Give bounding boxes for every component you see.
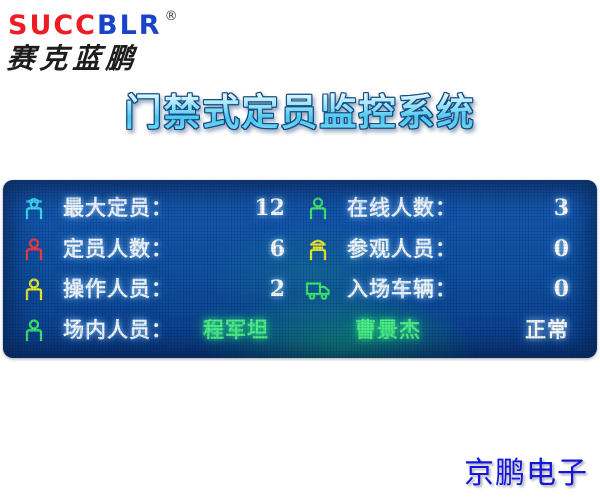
person-icon <box>19 234 49 264</box>
led-label-vehicle-count: 入场车辆： <box>347 277 457 301</box>
led-label-visitor-count: 参观人员： <box>347 237 457 261</box>
footer-brand: 京鹏电子 <box>464 456 588 492</box>
led-row-visitor-count: 参观人员： 0 <box>303 229 583 270</box>
led-value-max-capacity: 12 <box>254 196 299 220</box>
person-icon <box>19 315 49 345</box>
led-value-operator-count: 2 <box>270 277 299 301</box>
led-label-max-capacity: 最大定员： <box>63 196 173 220</box>
led-value-online-count: 3 <box>554 196 583 220</box>
person-icon <box>19 274 49 304</box>
led-row-status: 曹景杰 正常 <box>303 310 583 351</box>
led-rows-container: 最大定员： 12 在线人数： 3 <box>3 180 597 358</box>
led-onsite-name-1: 程军坦 <box>203 318 269 342</box>
registered-trademark-icon: ® <box>165 2 178 32</box>
led-value-visitor-count: 0 <box>554 237 583 261</box>
person-icon <box>303 193 333 223</box>
led-row-onsite-personnel: 场内人员： 程军坦 <box>19 310 299 351</box>
led-row-online-count: 在线人数： 3 <box>303 188 583 229</box>
led-value-vehicle-count: 0 <box>554 277 583 301</box>
led-label-online-count: 在线人数： <box>347 196 457 220</box>
led-label-onsite-personnel: 场内人员： <box>63 318 173 342</box>
brand-chinese-name: 赛克蓝鹏 <box>6 42 228 76</box>
led-row-vehicle-count: 入场车辆： 0 <box>303 269 583 310</box>
led-display-panel: 最大定员： 12 在线人数： 3 <box>3 180 597 358</box>
led-row-operator-count: 操作人员： 2 <box>19 269 299 310</box>
led-row-max-capacity: 最大定员： 12 <box>19 188 299 229</box>
brand-wordmark-succ: SUCC <box>8 10 97 41</box>
person-hat-icon <box>19 193 49 223</box>
led-onsite-name-2: 曹景杰 <box>355 318 421 342</box>
led-value-registered-count: 6 <box>270 237 299 261</box>
page-title: 门禁式定员监控系统 <box>0 90 600 136</box>
truck-icon <box>303 274 333 304</box>
brand-wordmark-blr: BLR <box>97 10 162 41</box>
led-row-registered-count: 定员人数： 6 <box>19 229 299 270</box>
led-label-operator-count: 操作人员： <box>63 277 173 301</box>
brand-wordmark: SUCCBLR® <box>8 6 228 41</box>
led-label-registered-count: 定员人数： <box>63 237 173 261</box>
status-badge: 正常 <box>525 318 583 342</box>
brand-logo: SUCCBLR® 赛克蓝鹏 <box>8 6 228 76</box>
person-helmet-icon <box>303 234 333 264</box>
